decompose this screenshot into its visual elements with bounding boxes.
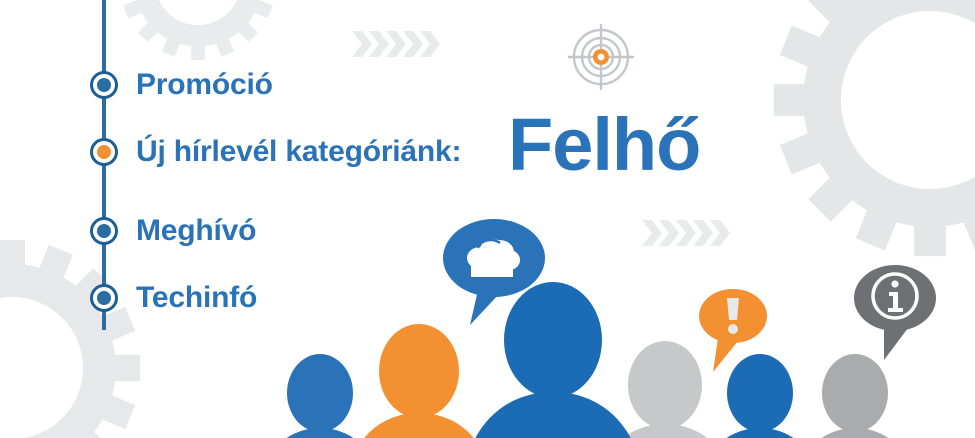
headline-felho: Felhő <box>508 108 700 182</box>
timeline-item-label: Új hírlevél kategóriánk: <box>136 137 461 167</box>
info-speech-bubble <box>854 265 936 360</box>
timeline: Promóció Új hírlevél kategóriánk: Meghív… <box>90 0 330 438</box>
timeline-item-label: Meghívó <box>136 216 256 246</box>
timeline-item-label: Promóció <box>136 70 273 100</box>
timeline-item-meghivo[interactable]: Meghívó <box>90 214 256 248</box>
timeline-item-ujhirlevel[interactable]: Új hírlevél kategóriánk: <box>90 135 461 169</box>
ring-bullet-icon <box>90 284 118 312</box>
timeline-item-label: Techinfó <box>136 283 257 313</box>
newsletter-banner: Promóció Új hírlevél kategóriánk: Meghív… <box>0 0 975 438</box>
exclamation-icon <box>727 298 739 334</box>
cloud-speech-bubble <box>443 219 545 325</box>
ring-bullet-icon <box>90 217 118 245</box>
timeline-item-promocio[interactable]: Promóció <box>90 68 273 102</box>
alert-speech-bubble <box>699 289 767 372</box>
ring-bullet-icon <box>90 71 118 99</box>
ring-bullet-icon <box>90 138 118 166</box>
timeline-item-techinfo[interactable]: Techinfó <box>90 281 257 315</box>
